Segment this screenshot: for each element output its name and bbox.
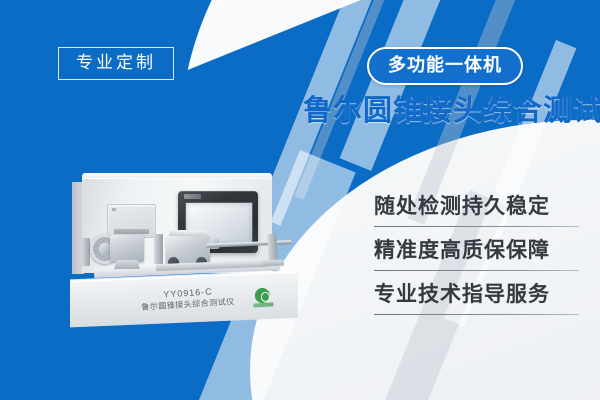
list-item: 专业技术指导服务: [374, 284, 579, 315]
product-banner: 专业定制 多功能一体机 鲁尔圆锥接头综合测试仪 随处检测持久稳定 精准度高质保保…: [0, 0, 600, 400]
multifunction-pill-badge: 多功能一体机: [367, 47, 523, 85]
cert-mark-shape: [261, 291, 271, 302]
divider: [374, 314, 579, 315]
access-panel: [107, 204, 156, 238]
divider: [374, 270, 579, 271]
feature-label: 精准度高质保保障: [374, 240, 579, 270]
page-title: 鲁尔圆锥接头综合测试仪: [303, 96, 600, 128]
drive-housing: [110, 235, 144, 262]
brand-logo-icon: [184, 194, 201, 199]
certification-logo-icon: [252, 287, 273, 308]
panel-slot: [114, 229, 149, 234]
support-post: [82, 238, 90, 266]
clamp-bracket: [154, 234, 163, 264]
cert-circle-shape: [254, 288, 270, 304]
feature-list: 随处检测持久稳定 精准度高质保保障 专业技术指导服务: [374, 196, 579, 328]
custom-service-badge: 专业定制: [58, 47, 174, 80]
feature-label: 专业技术指导服务: [374, 284, 579, 314]
end-support-foot: [262, 260, 284, 267]
list-item: 精准度高质保保障: [374, 240, 579, 271]
product-image: YY0916-C 鲁尔圆锥接头综合测试仪: [70, 178, 320, 383]
list-item: 随处检测持久稳定: [374, 196, 579, 227]
drive-mount: [114, 260, 140, 269]
cert-caption: [253, 302, 273, 307]
divider: [374, 226, 579, 227]
feature-label: 随处检测持久稳定: [374, 196, 579, 226]
panel-indicator-icon: [112, 208, 116, 211]
